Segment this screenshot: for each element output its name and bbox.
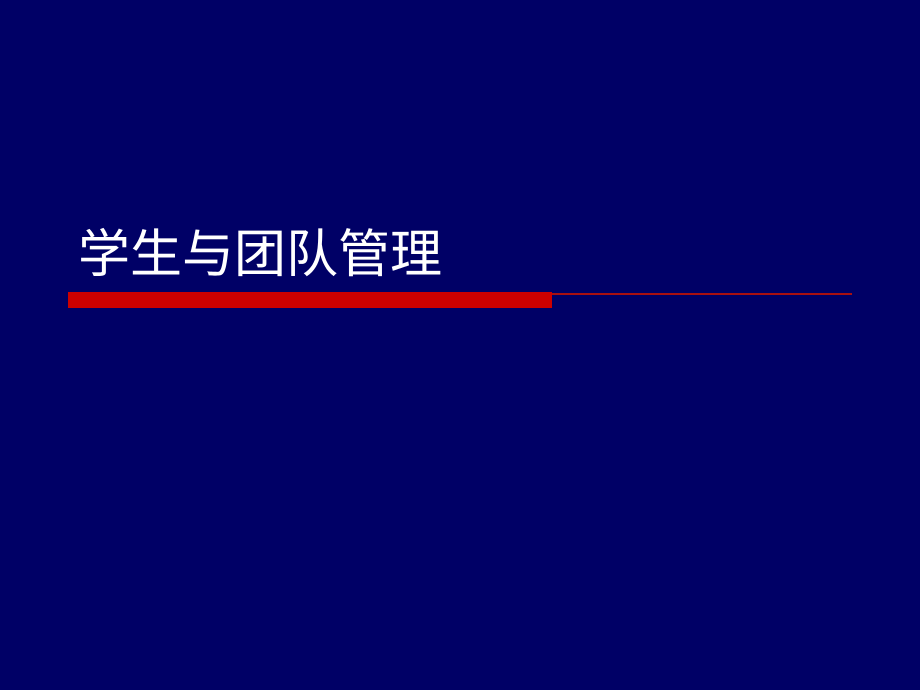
title-underline-group: [0, 292, 920, 312]
title-underline-accent-bar: [68, 292, 552, 308]
presentation-slide: 学生与团队管理: [0, 0, 920, 690]
slide-title: 学生与团队管理: [78, 226, 442, 286]
